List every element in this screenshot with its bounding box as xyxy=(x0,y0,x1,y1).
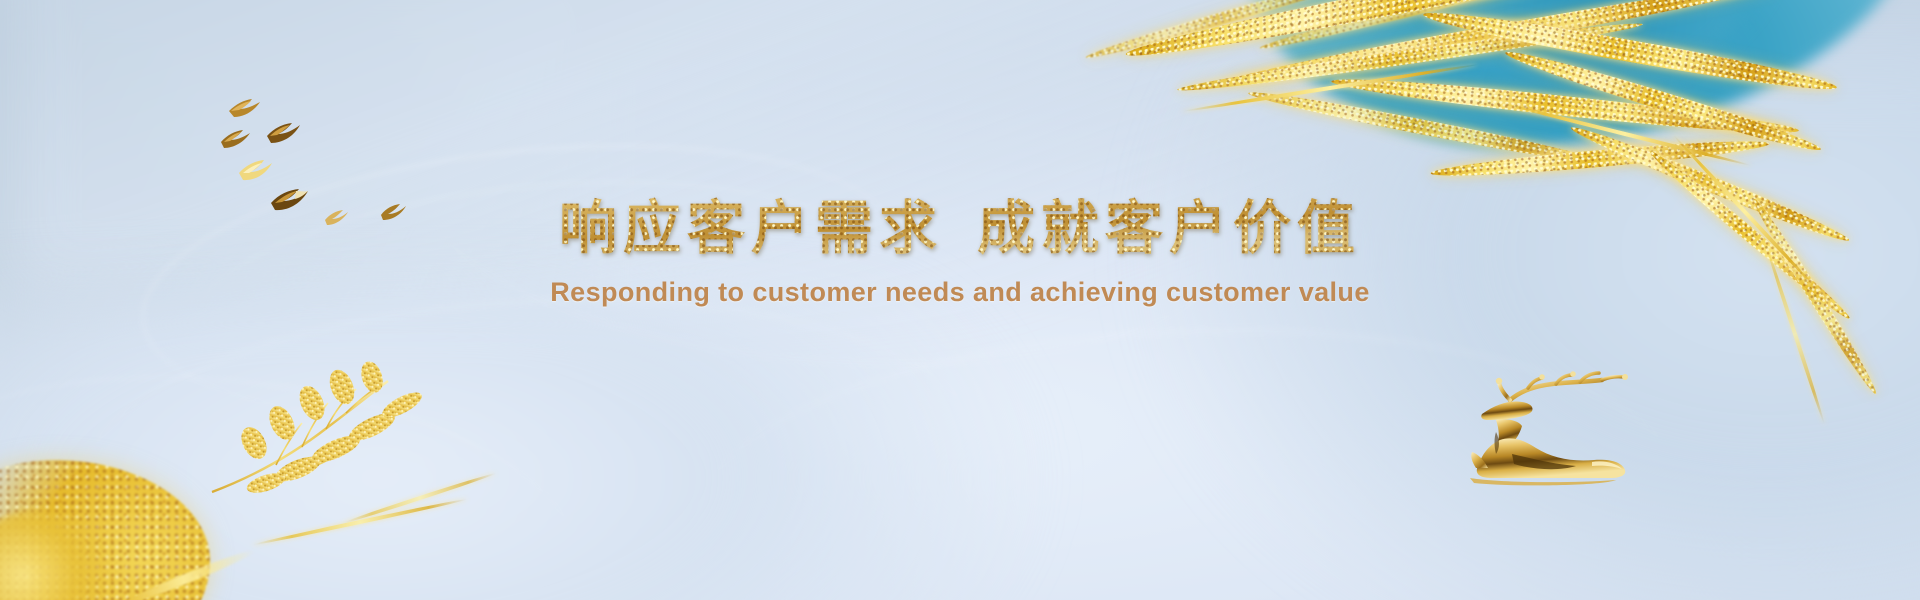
bird-icon xyxy=(220,130,252,149)
hero-banner: 响应客户需求成就客户价值 Responding to customer need… xyxy=(0,0,1920,600)
banner-text-block: 响应客户需求成就客户价值 Responding to customer need… xyxy=(0,196,1920,308)
bird-icon xyxy=(266,122,302,144)
bird-icon xyxy=(228,98,262,118)
page-title: 响应客户需求成就客户价值 xyxy=(0,196,1920,261)
headline-secondary: 成就客户价值 xyxy=(977,194,1361,262)
headline-primary: 响应客户需求 xyxy=(559,194,943,262)
gold-leaf-sprig xyxy=(206,355,436,500)
bird-icon xyxy=(238,160,274,182)
gold-deer-sculpture xyxy=(1452,370,1638,490)
page-subtitle: Responding to customer needs and achievi… xyxy=(0,277,1920,308)
